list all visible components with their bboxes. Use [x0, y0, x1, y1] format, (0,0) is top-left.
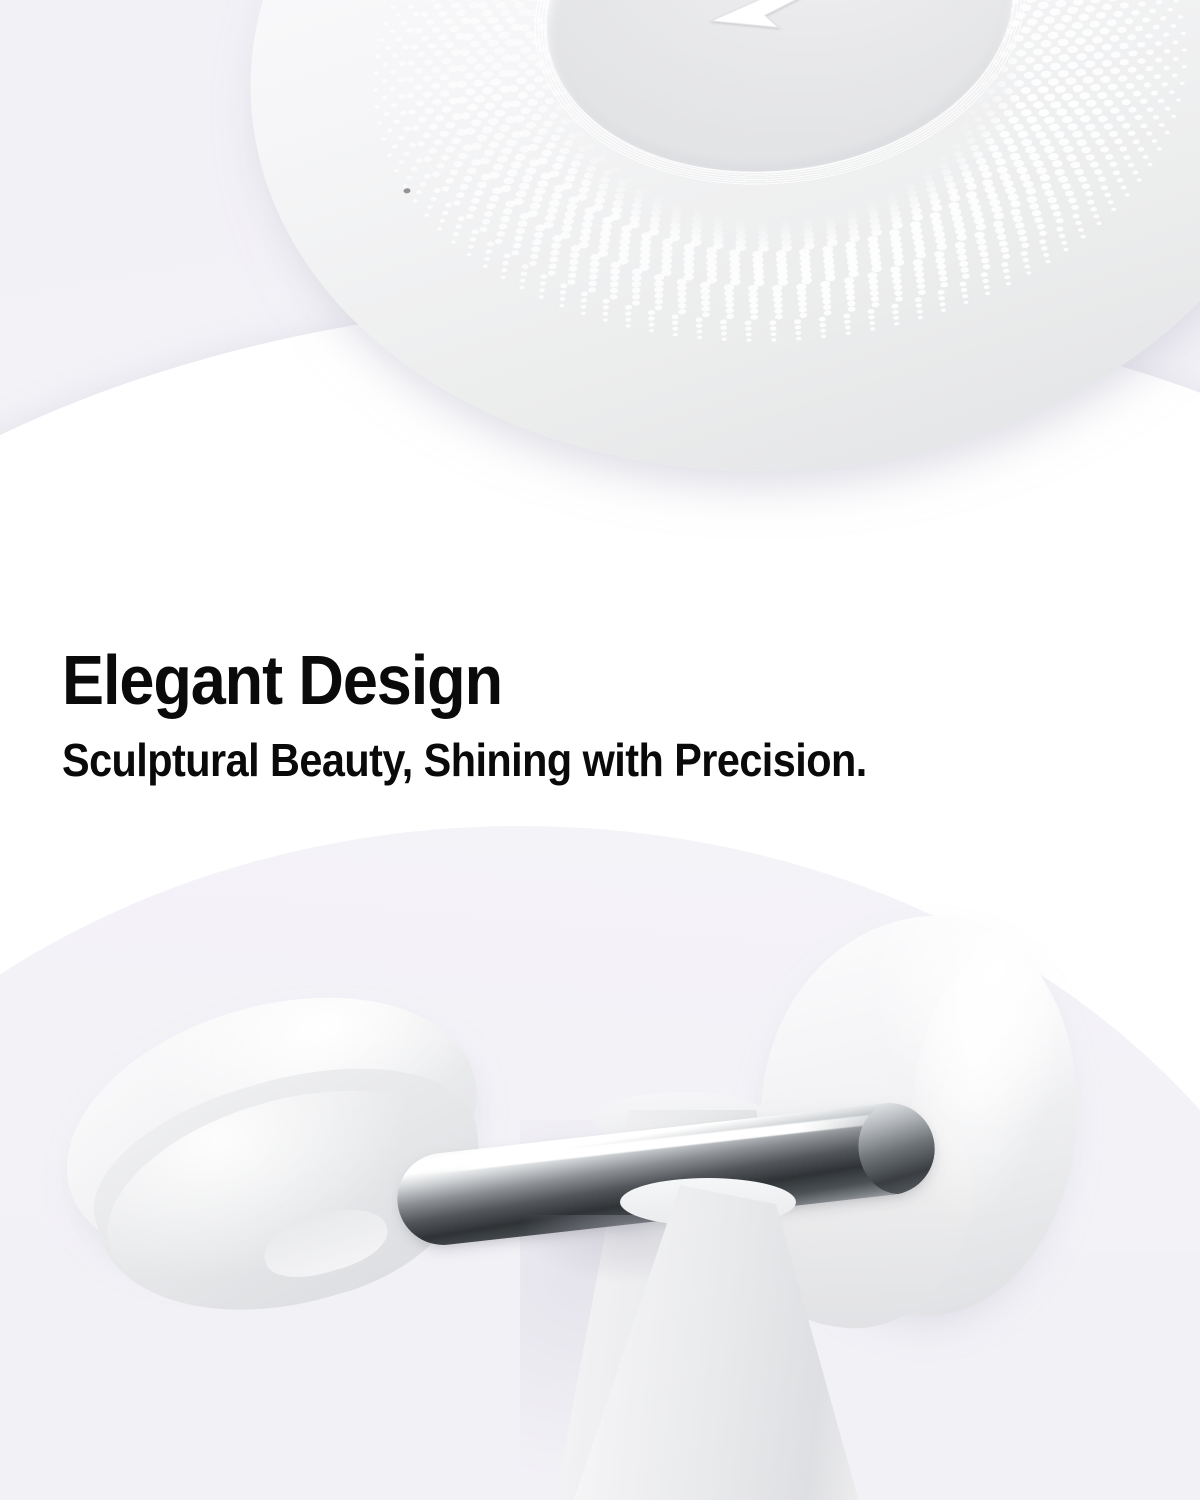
page-subtitle: Sculptural Beauty, Shining with Precisio… [62, 737, 867, 783]
charging-pad [250, 0, 1200, 510]
page-title: Elegant Design [62, 645, 502, 715]
product-feature-page: Elegant Design Sculptural Beauty, Shinin… [0, 0, 1200, 1500]
copy-block: Elegant Design Sculptural Beauty, Shinin… [0, 640, 1200, 830]
hero-top-image [0, 0, 1200, 640]
charging-pad-top-face [223, 0, 1200, 506]
